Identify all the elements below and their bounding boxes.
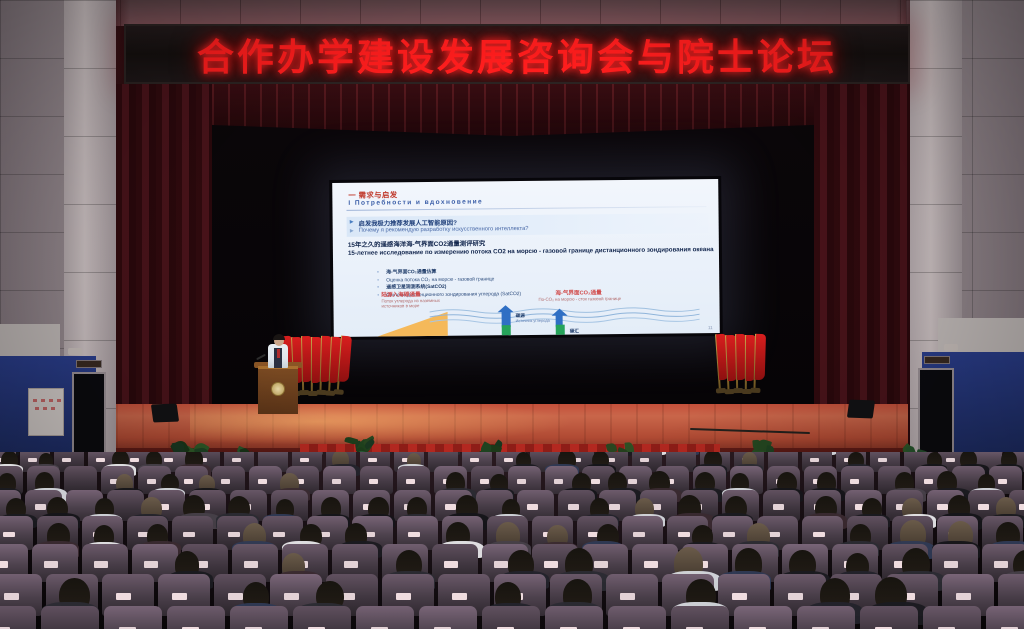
- seat-number-tag: [273, 532, 285, 538]
- seat-number-tag: [568, 504, 579, 509]
- seat-number-tag: [850, 479, 860, 484]
- auditorium-seat[interactable]: [671, 606, 729, 629]
- seat-number-tag: [62, 458, 71, 462]
- seat-number-tag: [147, 479, 157, 484]
- seat-number-tag: [445, 504, 456, 509]
- auditorium-seat[interactable]: [734, 606, 792, 629]
- seat-number-tag: [44, 561, 58, 567]
- seat-number-tag: [998, 479, 1008, 484]
- seat-number-tag: [344, 561, 358, 567]
- auditorium-seat[interactable]: [860, 606, 918, 629]
- auditorium-seat[interactable]: [230, 606, 288, 629]
- seat-number-tag: [164, 458, 173, 462]
- seat-number-tag: [813, 532, 825, 538]
- seat-number-tag: [591, 479, 601, 484]
- seat-number-tag: [183, 532, 195, 538]
- auditorium-seat[interactable]: [482, 606, 540, 629]
- seat-number-tag: [258, 479, 268, 484]
- seat-number-tag: [937, 504, 948, 509]
- seat-number-tag: [628, 479, 638, 484]
- seat-number-tag: [956, 593, 972, 600]
- seat-number-tag: [732, 593, 748, 600]
- seat-number-tag: [228, 593, 244, 600]
- seat-number-tag: [0, 561, 8, 567]
- auditorium-seat[interactable]: [545, 606, 603, 629]
- auditorium-seat[interactable]: [608, 606, 666, 629]
- seat-number-tag: [946, 458, 955, 462]
- seat-number-tag: [452, 593, 468, 600]
- seat-number-tag: [4, 593, 20, 600]
- seat-number-tag: [788, 593, 804, 600]
- seat-number-tag: [504, 458, 513, 462]
- auditorium-seat[interactable]: [293, 606, 351, 629]
- seat-number-tag: [633, 532, 645, 538]
- seat-number-tag: [978, 504, 989, 509]
- seat-number-tag: [96, 458, 105, 462]
- auditorium-seat[interactable]: [986, 606, 1024, 629]
- seat-number-tag: [773, 504, 784, 509]
- seat-number-tag: [480, 479, 490, 484]
- auditorium-seat[interactable]: [356, 606, 414, 629]
- seat-number-tag: [594, 561, 608, 567]
- seat-number-tag: [494, 561, 508, 567]
- seat-number-tag: [444, 561, 458, 567]
- seat-number-tag: [184, 479, 194, 484]
- seat-number-tag: [544, 561, 558, 567]
- seat-number-tag: [644, 561, 658, 567]
- seat-number-tag: [924, 479, 934, 484]
- auditorium-seat[interactable]: [0, 606, 36, 629]
- seat-number-tag: [369, 479, 379, 484]
- auditorium-seat[interactable]: [167, 606, 225, 629]
- seat-number-tag: [396, 593, 412, 600]
- seat-number-tag: [300, 458, 309, 462]
- seat-number-tag: [640, 458, 649, 462]
- seat-number-tag: [1019, 504, 1024, 509]
- audience-area: [0, 452, 1024, 629]
- seat-number-tag: [620, 593, 636, 600]
- seat-number-tag: [878, 458, 887, 462]
- seat-number-tag: [609, 504, 620, 509]
- seat-number-tag: [406, 479, 416, 484]
- seat-number-tag: [228, 532, 240, 538]
- auditorium-seat[interactable]: [797, 606, 855, 629]
- seat-number-tag: [944, 561, 958, 567]
- seat-number-tag: [35, 504, 46, 509]
- seat-number-tag: [470, 458, 479, 462]
- seat-number-tag: [810, 458, 819, 462]
- seat-number-tag: [723, 532, 735, 538]
- seat-number-tag: [232, 458, 241, 462]
- auditorium-scene: 合作办学建设发展咨询会与院士论坛 一 需求与启发 I Потребности и…: [0, 0, 1024, 629]
- seat-number-tag: [368, 458, 377, 462]
- auditorium-seat[interactable]: [419, 606, 477, 629]
- seat-number-tag: [284, 593, 300, 600]
- seat-number-tag: [408, 532, 420, 538]
- seat-number-tag: [3, 532, 15, 538]
- seat-number-tag: [527, 504, 538, 509]
- seat-number-tag: [28, 458, 37, 462]
- seat-number-tag: [144, 561, 158, 567]
- seat-number-tag: [94, 561, 108, 567]
- auditorium-seat[interactable]: [41, 606, 99, 629]
- seat-number-tag: [678, 532, 690, 538]
- seat-number-tag: [221, 479, 231, 484]
- seat-number-tag: [130, 458, 139, 462]
- seat-number-tag: [554, 479, 564, 484]
- seat-number-tag: [994, 561, 1008, 567]
- auditorium-seat[interactable]: [923, 606, 981, 629]
- seat-number-tag: [517, 479, 527, 484]
- auditorium-seat[interactable]: [104, 606, 162, 629]
- seat-number-tag: [172, 593, 188, 600]
- seat-number-tag: [116, 593, 132, 600]
- seat-number-tag: [244, 561, 258, 567]
- seat-number-tag: [332, 479, 342, 484]
